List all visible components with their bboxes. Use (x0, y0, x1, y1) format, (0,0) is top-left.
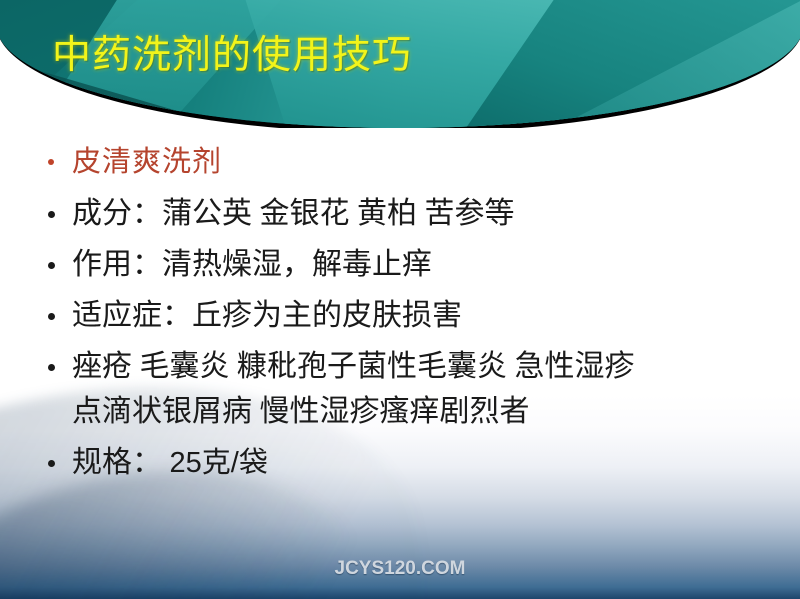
bullet-text: 作用：清热燥湿，解毒止痒 (72, 248, 432, 281)
bullet-text: 痤疮 毛囊炎 糠秕孢子菌性毛囊炎 急性湿疹 (72, 350, 635, 383)
bullet-text: 适应症：丘疹为主的皮肤损害 (72, 299, 462, 332)
bullet-text: 皮清爽洗剂 (72, 146, 222, 178)
bullet-dot-icon (48, 460, 55, 467)
bullet-item-effects: 作用：清热燥湿，解毒止痒 (0, 242, 800, 287)
bullet-value: 25克/袋 (170, 447, 268, 479)
bullet-dot-icon (48, 211, 55, 218)
bullet-item-conditions: 痤疮 毛囊炎 糠秕孢子菌性毛囊炎 急性湿疹 点滴状银屑病 慢性湿疹瘙痒剧烈者 (0, 344, 800, 434)
bullet-dot-icon (48, 262, 55, 269)
bullet-item-ingredients: 成分：蒲公英 金银花 黄柏 苦参等 (0, 191, 800, 236)
bullet-label: 规格： (72, 446, 162, 479)
bullet-dot-icon (48, 364, 55, 371)
title-banner: 中药洗剂的使用技巧 (0, 0, 800, 128)
slide: 中药洗剂的使用技巧 皮清爽洗剂 成分：蒲公英 金银花 黄柏 苦参等 作用：清热燥… (0, 0, 800, 599)
bullet-dot-icon (48, 313, 55, 320)
slide-title: 中药洗剂的使用技巧 (52, 33, 412, 79)
footer-watermark: JCYS120.COM (0, 558, 800, 580)
bullet-item-specification: 规格： 25克/袋 (0, 440, 800, 486)
bullet-dot-icon (48, 159, 54, 165)
bullet-text: 成分：蒲公英 金银花 黄柏 苦参等 (72, 197, 515, 230)
bullet-item-indications: 适应症：丘疹为主的皮肤损害 (0, 293, 800, 338)
bullet-list: 皮清爽洗剂 成分：蒲公英 金银花 黄柏 苦参等 作用：清热燥湿，解毒止痒 适应症… (0, 140, 800, 492)
bullet-text-continued: 点滴状银屑病 慢性湿疹瘙痒剧烈者 (72, 389, 800, 434)
bullet-item-product-name: 皮清爽洗剂 (0, 140, 800, 185)
